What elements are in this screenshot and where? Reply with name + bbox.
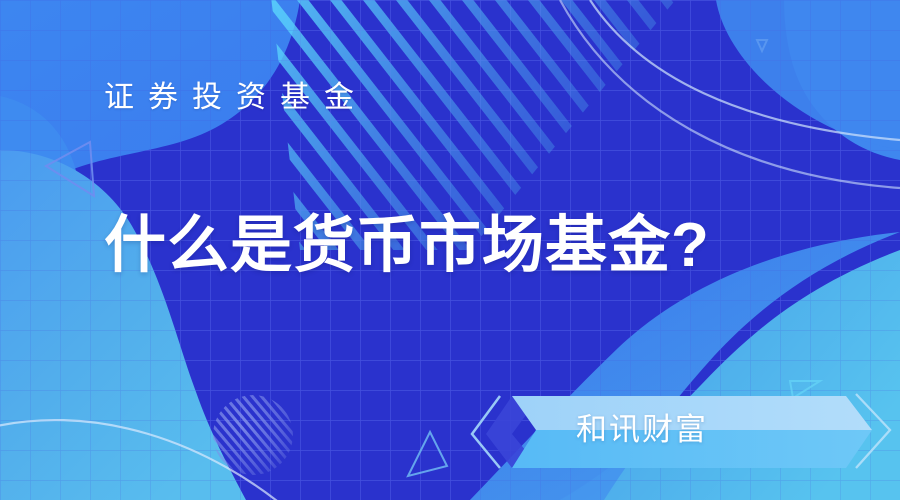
arc-top-right	[590, 0, 900, 140]
top-right-light-field	[784, 0, 900, 160]
triangle-outline-left	[46, 142, 94, 196]
badge-chevron-shadow	[486, 396, 540, 468]
arc-lower-sweep	[0, 420, 300, 500]
badge-chevron-outline	[472, 396, 500, 468]
poster-subtitle: 证券投资基金	[104, 78, 368, 118]
left-edge-wedge	[0, 96, 81, 414]
triangle-outline-top-right-small	[757, 40, 767, 51]
striped-circle-decoration	[213, 395, 293, 475]
poster-canvas: 证券投资基金 什么是货币市场基金? 和讯财富	[0, 0, 900, 500]
right-bottom-cyan	[560, 250, 900, 500]
bottom-left-blob	[0, 150, 246, 500]
triangle-outline-bottom-center	[408, 432, 447, 476]
arc-upper-sweep	[560, 0, 900, 188]
right-circle-arc	[716, 0, 900, 150]
poster-headline: 什么是货币市场基金?	[104, 206, 710, 286]
triangle-outline-right	[790, 381, 820, 398]
brand-badge-label: 和讯财富	[576, 409, 708, 451]
badge-arrow-outline	[856, 394, 890, 468]
